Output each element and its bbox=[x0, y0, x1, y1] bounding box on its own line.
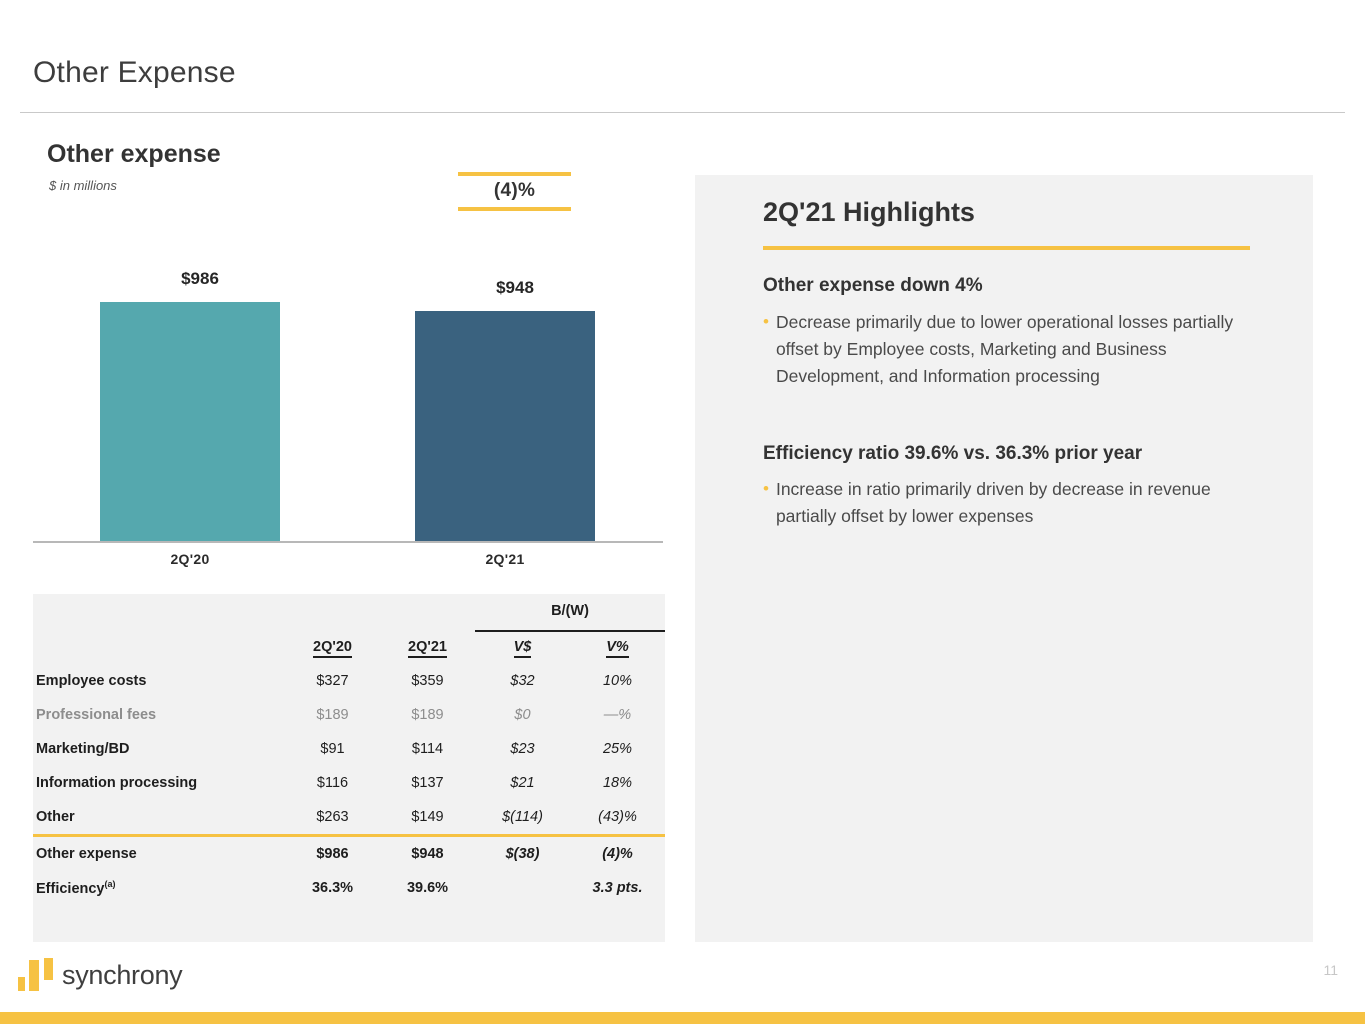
row-vpercent: 10% bbox=[570, 664, 665, 698]
col-header-2q20: 2Q'20 bbox=[285, 632, 380, 664]
header-divider bbox=[20, 112, 1345, 113]
row-vdollar: $21 bbox=[475, 766, 570, 800]
page-number: 11 bbox=[1323, 962, 1338, 978]
table-efficiency-row: Efficiency(a) 36.3% 39.6% 3.3 pts. bbox=[33, 871, 665, 905]
col-header-vpercent: V% bbox=[570, 632, 665, 664]
row-vpercent: (43)% bbox=[570, 800, 665, 834]
bar-value-label-1: $948 bbox=[425, 278, 605, 298]
bar-category-label-1: 2Q'21 bbox=[415, 551, 595, 567]
synchrony-logo: synchrony bbox=[18, 958, 198, 996]
synchrony-logo-bars-icon bbox=[18, 958, 58, 994]
col-header-vdollar: V$ bbox=[475, 632, 570, 664]
spacer-cell bbox=[33, 632, 285, 664]
highlight-heading-1: Efficiency ratio 39.6% vs. 36.3% prior y… bbox=[763, 441, 1253, 467]
highlights-body: Other expense down 4% • Decrease primari… bbox=[763, 273, 1253, 531]
expense-table-panel: B/(W) 2Q'20 2Q'21 V$ V% Employee costs $… bbox=[33, 594, 665, 942]
chart-units-label: $ in millions bbox=[49, 178, 117, 193]
row-vdollar: $0 bbox=[475, 698, 570, 732]
total-label: Other expense bbox=[33, 837, 285, 871]
row-2q21: $189 bbox=[380, 698, 475, 732]
chart-baseline bbox=[33, 541, 663, 543]
highlights-accent-rule bbox=[763, 246, 1250, 250]
row-vpercent: —% bbox=[570, 698, 665, 732]
delta-badge: (4)% bbox=[458, 172, 571, 211]
chart-title: Other expense bbox=[47, 140, 221, 169]
bar-0 bbox=[100, 302, 280, 541]
row-vdollar: $32 bbox=[475, 664, 570, 698]
spacer-cell bbox=[285, 594, 380, 630]
spacer-cell bbox=[380, 594, 475, 630]
highlight-bullet-text-0: Decrease primarily due to lower operatio… bbox=[776, 309, 1253, 391]
col-header-2q21: 2Q'21 bbox=[380, 632, 475, 664]
row-label: Information processing bbox=[33, 766, 285, 800]
efficiency-2q20: 36.3% bbox=[285, 871, 380, 905]
table-column-header-row: 2Q'20 2Q'21 V$ V% bbox=[33, 632, 665, 664]
total-2q21: $948 bbox=[380, 837, 475, 871]
row-vpercent: 25% bbox=[570, 732, 665, 766]
row-vpercent: 18% bbox=[570, 766, 665, 800]
bar-1 bbox=[415, 311, 595, 541]
row-2q20: $91 bbox=[285, 732, 380, 766]
row-vdollar: $(114) bbox=[475, 800, 570, 834]
highlight-heading-0: Other expense down 4% bbox=[763, 273, 1253, 299]
bullet-dot-icon: • bbox=[763, 309, 769, 391]
row-2q21: $114 bbox=[380, 732, 475, 766]
row-vdollar: $23 bbox=[475, 732, 570, 766]
bullet-dot-icon: • bbox=[763, 476, 769, 531]
highlight-bullet-1: • Increase in ratio primarily driven by … bbox=[763, 476, 1253, 531]
highlights-title: 2Q'21 Highlights bbox=[763, 197, 975, 228]
table-row: Information processing $116 $137 $21 18% bbox=[33, 766, 665, 800]
expense-table: B/(W) 2Q'20 2Q'21 V$ V% Employee costs $… bbox=[33, 594, 665, 905]
highlight-bullet-text-1: Increase in ratio primarily driven by de… bbox=[776, 476, 1253, 531]
table-row: Professional fees $189 $189 $0 —% bbox=[33, 698, 665, 732]
bar-category-label-0: 2Q'20 bbox=[100, 551, 280, 567]
row-2q21: $137 bbox=[380, 766, 475, 800]
row-2q21: $149 bbox=[380, 800, 475, 834]
bar-value-label-0: $986 bbox=[110, 269, 290, 289]
efficiency-footnote-marker: (a) bbox=[105, 879, 116, 889]
brand-name: synchrony bbox=[62, 960, 182, 991]
highlights-panel: 2Q'21 Highlights Other expense down 4% •… bbox=[695, 175, 1313, 942]
row-label: Other bbox=[33, 800, 285, 834]
row-2q20: $116 bbox=[285, 766, 380, 800]
page-title: Other Expense bbox=[33, 56, 236, 90]
spacer-cell bbox=[33, 594, 285, 630]
total-2q20: $986 bbox=[285, 837, 380, 871]
row-label: Professional fees bbox=[33, 698, 285, 732]
table-row: Other $263 $149 $(114) (43)% bbox=[33, 800, 665, 834]
row-2q21: $359 bbox=[380, 664, 475, 698]
footer-accent-bar bbox=[0, 1012, 1365, 1024]
table-row: Employee costs $327 $359 $32 10% bbox=[33, 664, 665, 698]
total-vdollar: $(38) bbox=[475, 837, 570, 871]
delta-rule-bottom bbox=[458, 207, 571, 211]
table-group-header-row: B/(W) bbox=[33, 594, 665, 630]
row-label: Employee costs bbox=[33, 664, 285, 698]
highlight-bullet-0: • Decrease primarily due to lower operat… bbox=[763, 309, 1253, 391]
total-vpercent: (4)% bbox=[570, 837, 665, 871]
table-group-header-bw: B/(W) bbox=[475, 594, 665, 630]
efficiency-vpercent: 3.3 pts. bbox=[570, 871, 665, 905]
delta-value: (4)% bbox=[458, 176, 571, 207]
row-label: Marketing/BD bbox=[33, 732, 285, 766]
row-2q20: $263 bbox=[285, 800, 380, 834]
efficiency-label: Efficiency(a) bbox=[33, 871, 285, 905]
table-total-row: Other expense $986 $948 $(38) (4)% bbox=[33, 837, 665, 871]
bar-chart: $986 $948 2Q'20 2Q'21 bbox=[33, 255, 663, 585]
table-row: Marketing/BD $91 $114 $23 25% bbox=[33, 732, 665, 766]
row-2q20: $189 bbox=[285, 698, 380, 732]
row-2q20: $327 bbox=[285, 664, 380, 698]
efficiency-vdollar bbox=[475, 871, 570, 905]
efficiency-2q21: 39.6% bbox=[380, 871, 475, 905]
